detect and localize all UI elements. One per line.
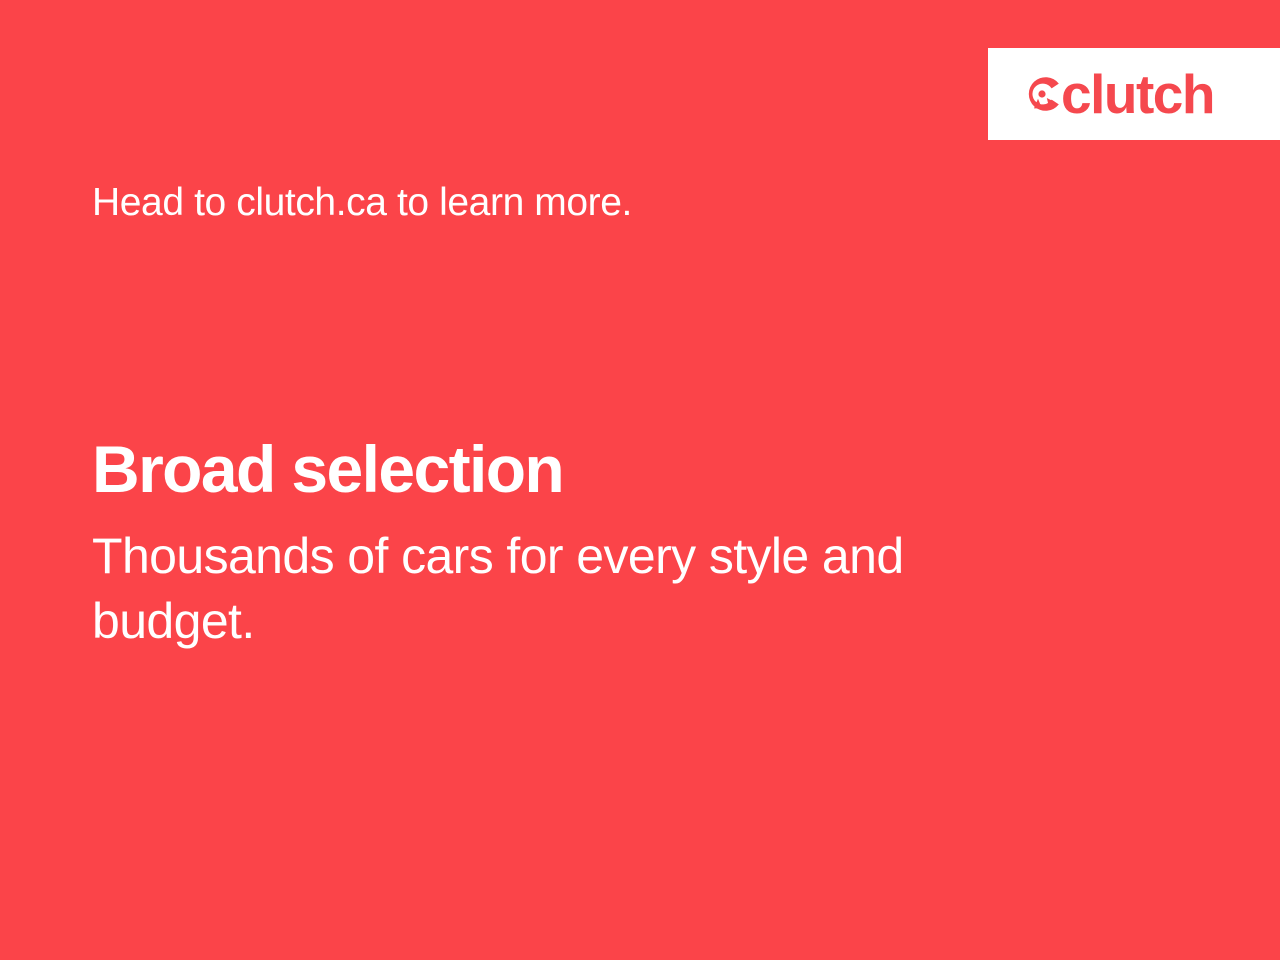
eyebrow-text: Head to clutch.ca to learn more. [92, 181, 632, 226]
brand-lockup: clutch [1022, 67, 1214, 122]
brand-logo-plate[interactable]: clutch [988, 48, 1280, 140]
brand-wordmark: clutch [1061, 67, 1214, 122]
subheadline: Thousands of cars for every style and bu… [92, 524, 1022, 654]
clutch-c-steering-wheel-icon [1022, 74, 1062, 114]
headline: Broad selection [92, 436, 1072, 502]
copy-block: Broad selection Thousands of cars for ev… [92, 436, 1072, 654]
slide-canvas: clutch Head to clutch.ca to learn more. … [0, 0, 1280, 960]
